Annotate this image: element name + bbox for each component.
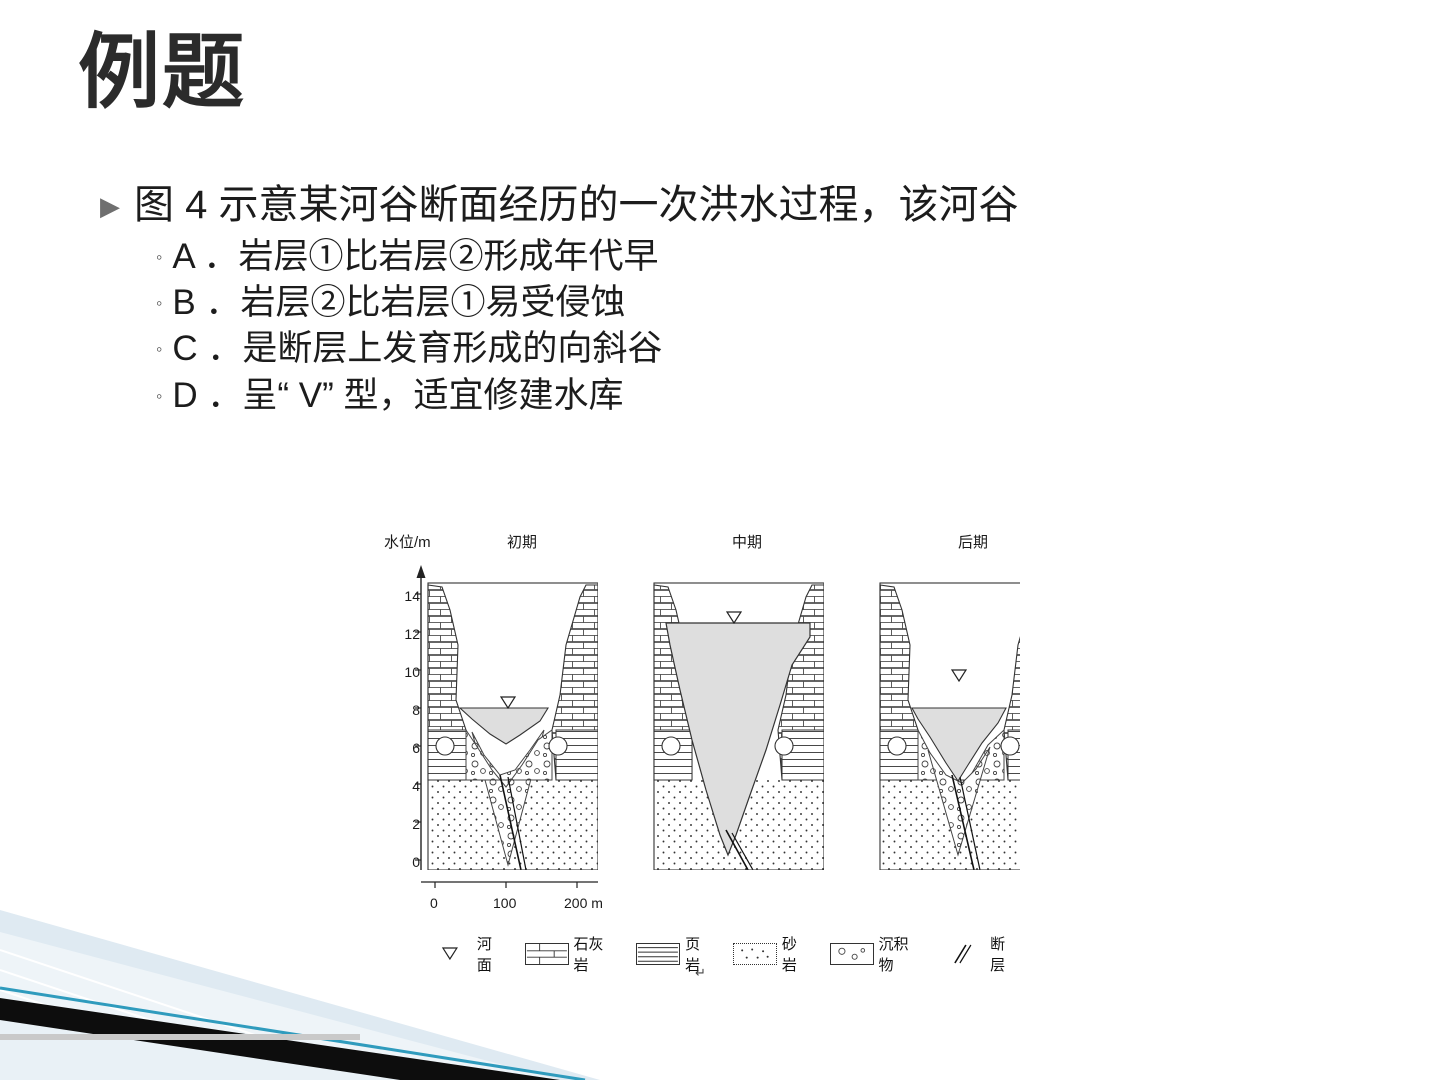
option-b-text: B ．岩层②比岩层①易受侵蚀: [172, 280, 625, 326]
water-level-marker: [727, 612, 741, 623]
option-list: ◦ A ．岩层①比岩层②形成年代早 ◦ B ．岩层②比岩层①易受侵蚀 ◦ C ．…: [156, 234, 1370, 419]
bullet-level1-text: 图 4 示意某河谷断面经历的一次洪水过程，该河谷: [134, 180, 1018, 230]
water-level-marker: [501, 697, 515, 708]
decorative-ribbon: [0, 870, 1440, 1080]
slide-canvas: 例题 ▶ 图 4 示意某河谷断面经历的一次洪水过程，该河谷 ◦ A ．岩层①比岩…: [0, 0, 1440, 1080]
list-item: ◦ A ．岩层①比岩层②形成年代早: [156, 234, 1370, 280]
option-c-text: C ．是断层上发育形成的向斜谷: [172, 326, 662, 372]
circle-bullet-icon: ◦: [156, 246, 162, 270]
option-a-text: A ．岩层①比岩层②形成年代早: [172, 234, 658, 280]
circle-bullet-icon: ◦: [156, 385, 162, 409]
list-item: ◦ D ．呈“ V” 型，适宜修建水库: [156, 373, 1370, 419]
circle-bullet-icon: ◦: [156, 292, 162, 316]
circle-bullet-icon: ◦: [156, 338, 162, 362]
list-item: ◦ B ．岩层②比岩层①易受侵蚀: [156, 280, 1370, 326]
bullet-block: ▶ 图 4 示意某河谷断面经历的一次洪水过程，该河谷 ◦ A ．岩层①比岩层②形…: [100, 180, 1370, 419]
water-level-marker: [952, 670, 966, 681]
list-item: ◦ C ．是断层上发育形成的向斜谷: [156, 326, 1370, 372]
triangle-bullet-icon: ▶: [100, 190, 120, 223]
cross-section-drawing: [380, 525, 1020, 925]
bullet-level1: ▶ 图 4 示意某河谷断面经历的一次洪水过程，该河谷: [100, 180, 1370, 230]
page-title: 例题: [78, 30, 246, 116]
option-d-text: D ．呈“ V” 型，适宜修建水库: [172, 373, 623, 419]
